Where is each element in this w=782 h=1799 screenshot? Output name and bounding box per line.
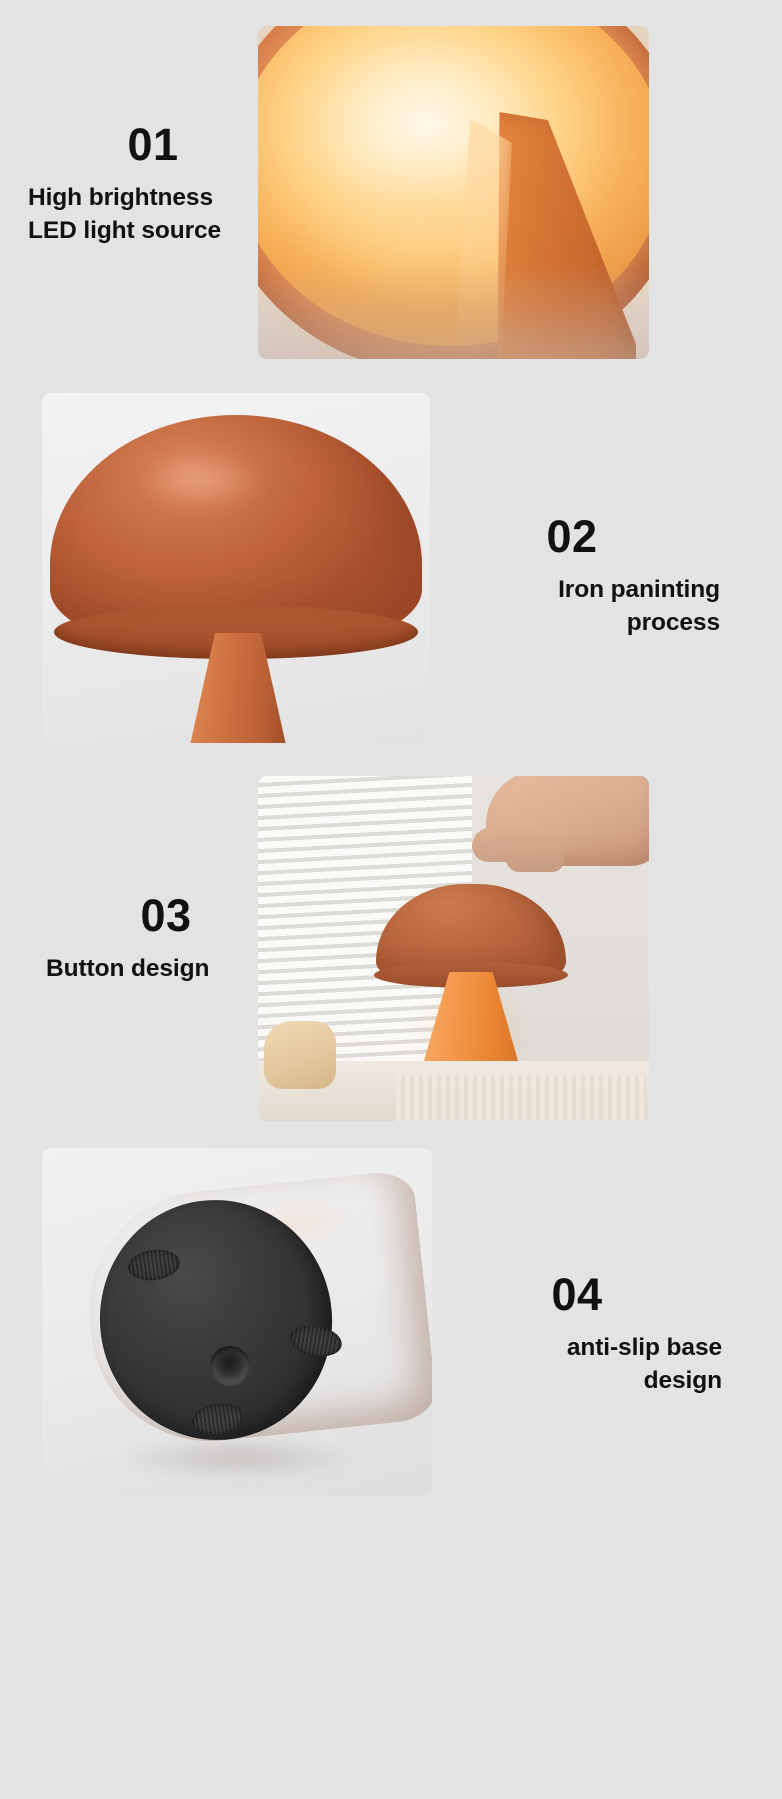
feature-text-01-line-2: LED light source [28, 214, 278, 247]
decorative-object [264, 1021, 336, 1089]
shade-highlight [112, 437, 292, 523]
feature-caption-02: 02 Iron paninting process [424, 514, 720, 640]
table-front-texture [396, 1075, 646, 1121]
feature-infographic-page: 01 High brightness LED light source 02 I… [0, 0, 782, 1799]
feature-caption-03: 03 Button design [46, 893, 286, 985]
feature-text-04-line-2: design [432, 1364, 722, 1397]
feature-caption-04: 04 anti-slip base design [432, 1272, 722, 1398]
feature-text-02-line-2: process [424, 606, 720, 639]
feature-photo-01 [258, 26, 649, 359]
feature-caption-01: 01 High brightness LED light source [28, 122, 278, 248]
feature-number-04: 04 [432, 1272, 722, 1317]
finger-lower [506, 844, 564, 872]
feature-photo-03 [258, 776, 649, 1121]
feature-text-01-line-1: High brightness [28, 181, 278, 214]
feature-number-01: 01 [28, 122, 278, 167]
feature-photo-04 [42, 1148, 432, 1496]
feature-text-03-line-1: Button design [46, 952, 286, 985]
feature-number-03: 03 [46, 893, 286, 938]
feature-number-02: 02 [424, 514, 720, 559]
feature-text-02-line-1: Iron paninting [424, 573, 720, 606]
table-shadow [258, 263, 649, 359]
feature-photo-02 [42, 393, 430, 743]
feature-text-04-line-1: anti-slip base [432, 1331, 722, 1364]
